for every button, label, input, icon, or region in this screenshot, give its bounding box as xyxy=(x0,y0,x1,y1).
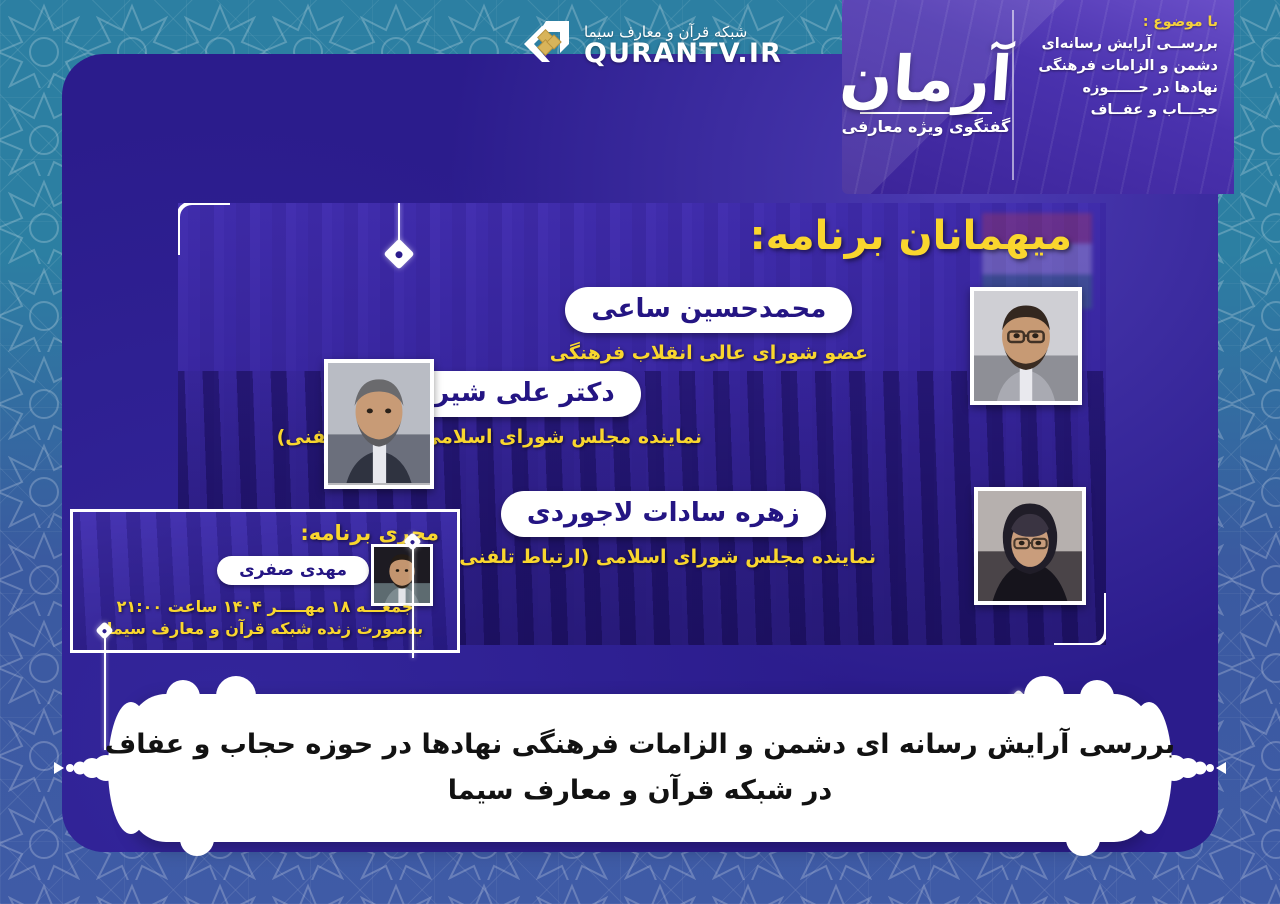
guest-photo-2 xyxy=(324,359,434,489)
guest-card-3: زهره سادات لاجوردی نماینده مجلس شورای اس… xyxy=(451,491,876,568)
host-connector-line xyxy=(412,540,414,658)
caption-line-1: بررسی آرایش رسانه ای دشمن و الزامات فرهن… xyxy=(105,725,1175,766)
scallop-4 xyxy=(1024,676,1064,716)
program-subtitle: گفتگوی ویژه معارفی xyxy=(842,117,1010,136)
guest-photo-1 xyxy=(970,287,1082,405)
scallop-6 xyxy=(1066,822,1100,856)
topic-line-1: بررســی آرایش رسانه‌ای xyxy=(1038,34,1218,55)
program-logo: آرمان گفتگوی ویژه معارفی xyxy=(842,0,1010,194)
network-site-url: QURANTV.IR xyxy=(584,40,782,68)
topic-line-2: دشمن و الزامات فرهنگی xyxy=(1038,56,1218,77)
network-logo: شبکه قرآن و معارف سیما QURANTV.IR xyxy=(516,18,782,74)
guests-heading: میهمانان برنامه: xyxy=(750,213,1072,259)
host-card: مجری برنامه: مهدی صفری جمعـــه ۱۸ مهــــ… xyxy=(70,509,460,653)
scallop-5 xyxy=(180,822,214,856)
corner-bracket-top-left-icon xyxy=(178,203,230,255)
topic-block: با موضوع : بررســی آرایش رسانه‌ای دشمن و… xyxy=(1016,0,1234,194)
guest-card-1: محمدحسین ساعی عضو شورای عالی انقلاب فرهن… xyxy=(550,287,868,364)
quran-network-diamond-logo-icon xyxy=(516,18,572,74)
schedule-date: جمعـــه ۱۸ مهـــــر ۱۴۰۴ ساعت ۲۱:۰۰ xyxy=(117,597,414,616)
guest-name-3: زهره سادات لاجوردی xyxy=(501,491,826,537)
host-schedule: جمعـــه ۱۸ مهـــــر ۱۴۰۴ ساعت ۲۱:۰۰ به‌ص… xyxy=(93,597,437,638)
program-name: آرمان xyxy=(842,50,1014,109)
host-name: مهدی صفری xyxy=(217,556,369,585)
caption-bar: بررسی آرایش رسانه ای دشمن و الزامات فرهن… xyxy=(0,694,1280,842)
guest-role-3: نماینده مجلس شورای اسلامی (ارتباط تلفنی) xyxy=(451,546,876,568)
brand-divider xyxy=(1012,10,1014,180)
scallop-1 xyxy=(166,680,200,714)
guest-name-1: محمدحسین ساعی xyxy=(565,287,852,333)
caption-line-2: در شبکه قرآن و معارف سیما xyxy=(448,771,832,812)
guest-photo-3 xyxy=(974,487,1086,605)
topic-line-3: نهادها در حــــــوزه xyxy=(1038,78,1218,99)
caption-cloud: بررسی آرایش رسانه ای دشمن و الزامات فرهن… xyxy=(130,694,1150,842)
topic-lines: بررســی آرایش رسانه‌ای دشمن و الزامات فر… xyxy=(1038,34,1218,121)
scallop-3 xyxy=(1080,680,1114,714)
guest-role-1: عضو شورای عالی انقلاب فرهنگی xyxy=(550,342,868,364)
topic-label: با موضوع : xyxy=(1143,14,1218,30)
scallop-2 xyxy=(216,676,256,716)
topic-line-4: حجـــاب و عفــاف xyxy=(1038,100,1218,121)
schedule-channel: به‌صورت زنده شبکه قرآن و معارف سیما xyxy=(107,619,423,638)
program-branding-box: با موضوع : بررســی آرایش رسانه‌ای دشمن و… xyxy=(842,0,1234,194)
